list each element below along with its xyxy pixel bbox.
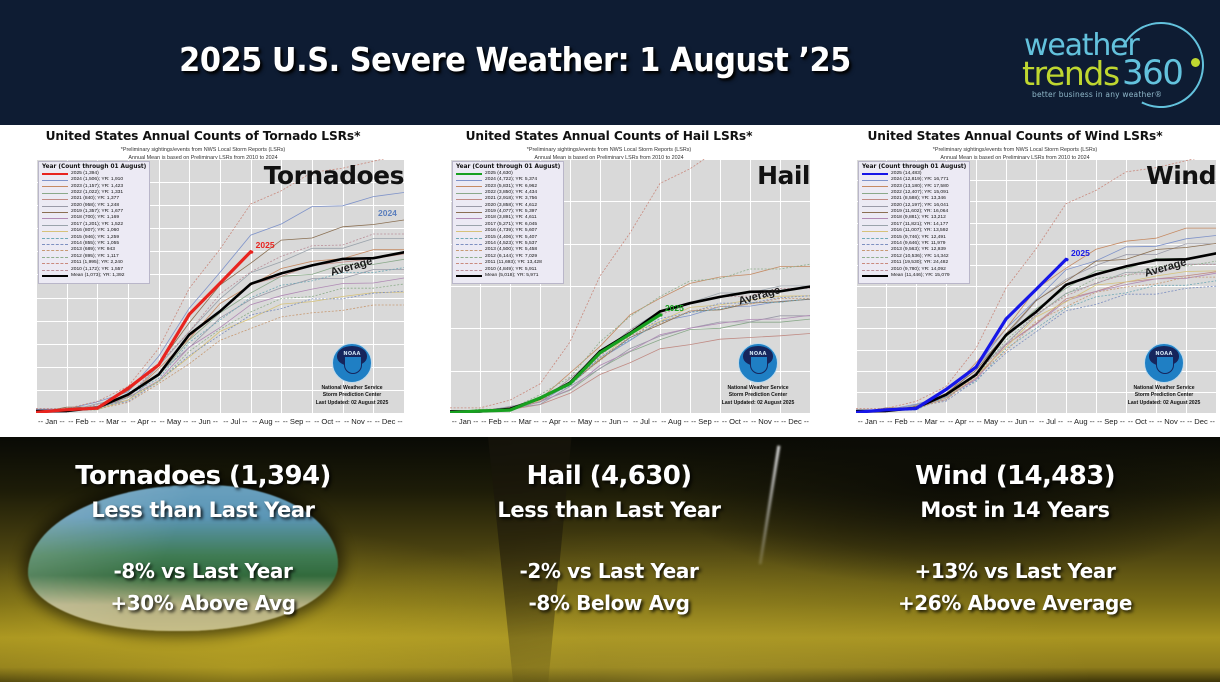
legend-label: 2012 (10,536); YR: 14,342 [891, 255, 949, 260]
legend-swatch [42, 275, 68, 277]
legend-label: 2024 (12,819); YR: 16,771 [891, 178, 949, 183]
legend-swatch [42, 186, 68, 187]
legend-label: 2023 (1,157); YR: 1,423 [71, 185, 123, 190]
legend-label: 2021 (2,918); YR: 3,756 [485, 197, 537, 202]
x-axis-tick-label: -- Aug -- [661, 417, 688, 426]
legend-swatch [42, 257, 68, 258]
chart-subtitle-line1: *Preliminary sightings/events from NWS L… [812, 146, 1218, 154]
noaa-attribution-text: National Weather ServiceStorm Prediction… [1116, 385, 1212, 407]
legend-swatch [456, 180, 482, 181]
legend-swatch [862, 275, 888, 277]
legend-swatch [862, 199, 888, 200]
legend-swatch [42, 218, 68, 219]
legend-swatch [456, 193, 482, 194]
noaa-wordmark: NOAA [1145, 351, 1183, 357]
x-axis: -- Jan ---- Feb ---- Mar ---- Apr ---- M… [450, 417, 810, 431]
x-axis-tick-label: -- Mar -- [511, 417, 538, 426]
legend-swatch [42, 212, 68, 213]
logo-word-trends: trends [1022, 54, 1119, 93]
legend-swatch [42, 250, 68, 251]
x-axis-tick-label: -- Oct -- [722, 417, 748, 426]
x-axis-tick-label: -- Apr -- [542, 417, 568, 426]
legend-label: 2021 (840); YR: 1,377 [71, 197, 119, 202]
legend-swatch [862, 244, 888, 245]
legend-title: Year (Count through 01 August) [862, 164, 966, 170]
x-axis-tick-label: -- Sep -- [283, 417, 311, 426]
legend-swatch [862, 250, 888, 251]
x-axis-tick-label: -- May -- [571, 417, 600, 426]
x-axis-tick-label: -- Jan -- [858, 417, 885, 426]
summary-subheading: Most in 14 Years [812, 498, 1218, 522]
legend-swatch [862, 270, 888, 271]
noaa-attribution-line: Last Updated: 02 August 2025 [304, 400, 400, 407]
legend-label: 2011 (19,530); YR: 24,482 [891, 261, 948, 266]
x-axis-tick-label: -- Jul -- [1039, 417, 1063, 426]
legend-label: 2016 (11,007); YR: 13,592 [891, 229, 948, 234]
legend-title: Year (Count through 01 August) [456, 164, 560, 170]
noaa-wordmark: NOAA [333, 351, 371, 357]
noaa-attribution-line: Last Updated: 02 August 2025 [710, 400, 806, 407]
x-axis-tick-label: -- Oct -- [314, 417, 340, 426]
x-axis-tick-label: -- Feb -- [68, 417, 95, 426]
chart-title: United States Annual Counts of Tornado L… [0, 129, 406, 143]
legend-swatch [862, 173, 888, 175]
summary-vs-last-year: -8% vs Last Year [0, 559, 406, 583]
noaa-wordmark: NOAA [739, 351, 777, 357]
noaa-attribution-text: National Weather ServiceStorm Prediction… [304, 385, 400, 407]
legend-swatch [42, 199, 68, 200]
x-axis-tick-label: -- Mar -- [917, 417, 944, 426]
x-axis-tick-label: -- Jun -- [191, 417, 218, 426]
legend-swatch [456, 250, 482, 251]
summary-subheading: Less than Last Year [0, 498, 406, 522]
charts-band: United States Annual Counts of Tornado L… [0, 125, 1220, 437]
legend-label: 2011 (11,693); YR: 13,428 [485, 261, 542, 266]
legend-swatch [862, 186, 888, 187]
header-bar: 2025 U.S. Severe Weather: 1 August ’25 w… [0, 0, 1220, 125]
extra-year-label: 2024 [378, 208, 397, 218]
legend-swatch [862, 257, 888, 258]
summary-band: Tornadoes (1,394) Less than Last Year -8… [0, 437, 1220, 682]
legend-label: 2015 (4,406); YR: 5,407 [485, 236, 537, 241]
legend-label: 2010 (4,849); YR: 5,911 [485, 268, 537, 273]
legend-title: Year (Count through 01 August) [42, 164, 146, 170]
noaa-seal-icon: NOAA [1144, 343, 1184, 383]
x-axis-tick-label: -- Aug -- [1067, 417, 1094, 426]
current-year-label: 2025 [1071, 248, 1090, 258]
chart-title: United States Annual Counts of Hail LSRs… [406, 129, 812, 143]
legend-swatch [42, 206, 68, 207]
chart-legend: Year (Count through 01 August) 2025 (1,3… [38, 161, 150, 284]
legend-swatch [456, 199, 482, 200]
chart-watermark: Tornadoes [264, 161, 404, 190]
legend-label: 2013 (4,500); YR: 5,458 [485, 248, 537, 253]
x-axis: -- Jan ---- Feb ---- Mar ---- Apr ---- M… [36, 417, 404, 431]
legend-swatch [456, 212, 482, 213]
legend-swatch [42, 225, 68, 226]
legend-label: 2015 (946); YR: 1,259 [71, 236, 119, 241]
x-axis-tick-label: -- Dec -- [781, 417, 809, 426]
legend-label: 2018 (9,881); YR: 13,212 [891, 216, 946, 221]
x-axis-tick-label: -- Sep -- [1097, 417, 1125, 426]
legend-swatch [42, 193, 68, 194]
x-axis-tick-label: -- Jan -- [38, 417, 65, 426]
summary-vs-average: -8% Below Avg [406, 591, 812, 615]
legend-swatch [456, 244, 482, 245]
x-axis-tick-label: -- Apr -- [948, 417, 974, 426]
legend-swatch [862, 206, 888, 207]
legend-label: 2016 (4,739); YR: 5,607 [485, 229, 537, 234]
x-axis-tick-label: -- May -- [977, 417, 1006, 426]
noaa-attribution: NOAA National Weather ServiceStorm Predi… [1116, 343, 1212, 407]
legend-swatch [862, 263, 888, 264]
chart-watermark: Hail [757, 161, 810, 190]
x-axis-tick-label: -- Jan -- [452, 417, 479, 426]
x-axis-tick-label: -- Oct -- [1128, 417, 1154, 426]
legend-swatch [456, 263, 482, 264]
x-axis-tick-label: -- Jul -- [633, 417, 657, 426]
legend-label: 2012 (6,144); YR: 7,029 [485, 255, 537, 260]
legend-label: 2013 (689); YR: 943 [71, 248, 115, 253]
severe-weather-infographic: 2025 U.S. Severe Weather: 1 August ’25 w… [0, 0, 1220, 682]
chart-panel-wind: United States Annual Counts of Wind LSRs… [812, 125, 1218, 437]
logo-tagline: better business in any weather® [1032, 90, 1162, 99]
x-axis-tick-label: -- Feb -- [887, 417, 914, 426]
summary-heading: Wind (14,483) [812, 461, 1218, 491]
noaa-attribution-line: Storm Prediction Center [304, 392, 400, 399]
legend-swatch [456, 225, 482, 226]
legend-label: 2020 (3,858); YR: 4,612 [485, 204, 537, 209]
logo-dot-icon [1191, 58, 1200, 67]
legend-swatch [862, 193, 888, 194]
noaa-seal-icon: NOAA [738, 343, 778, 383]
legend-swatch [42, 244, 68, 245]
series-line-2025 [450, 315, 661, 413]
legend-label: 2020 (12,197); YR: 16,041 [891, 204, 949, 209]
page-title: 2025 U.S. Severe Weather: 1 August ’25 [142, 40, 887, 79]
legend-label: 2023 (13,180); YR: 17,580 [891, 185, 949, 190]
chart-watermark: Wind [1146, 161, 1216, 190]
legend-swatch [42, 231, 68, 232]
chart-panel-tornado: United States Annual Counts of Tornado L… [0, 125, 406, 437]
legend-label: 2021 (8,588); YR: 13,346 [891, 197, 946, 202]
x-axis-tick-label: -- Nov -- [1157, 417, 1185, 426]
legend-label: 2018 (3,891); YR: 4,611 [485, 216, 537, 221]
x-axis-tick-label: -- Sep -- [691, 417, 719, 426]
noaa-attribution: NOAA National Weather ServiceStorm Predi… [710, 343, 806, 407]
chart-panel-hail: United States Annual Counts of Hail LSRs… [406, 125, 812, 437]
legend-swatch [456, 218, 482, 219]
summary-column-wind: Wind (14,483) Most in 14 Years +13% vs L… [812, 437, 1218, 682]
legend-swatch [42, 270, 68, 271]
noaa-attribution-line: Last Updated: 02 August 2025 [1116, 400, 1212, 407]
legend-swatch [862, 231, 888, 232]
legend-label: 2016 (807); YR: 1,060 [71, 229, 119, 234]
legend-label: 2018 (700); YR: 1,169 [71, 216, 119, 221]
chart-subtitle-line1: *Preliminary sightings/events from NWS L… [0, 146, 406, 154]
legend-swatch [42, 263, 68, 264]
x-axis-tick-label: -- Feb -- [481, 417, 508, 426]
legend-swatch [456, 231, 482, 232]
current-year-label: 2025 [665, 303, 684, 313]
legend-swatch [456, 206, 482, 207]
x-axis-tick-label: -- Nov -- [344, 417, 372, 426]
legend-swatch [42, 173, 68, 175]
current-year-label: 2025 [256, 240, 275, 250]
legend-swatch [456, 257, 482, 258]
legend-swatch [456, 275, 482, 277]
legend-swatch [456, 270, 482, 271]
chart-subtitle-line1: *Preliminary sightings/events from NWS L… [406, 146, 812, 154]
x-axis-tick-label: -- Apr -- [130, 417, 156, 426]
legend-label: 2025 (1,394) [71, 172, 99, 177]
summary-column-hail: Hail (4,630) Less than Last Year -2% vs … [406, 437, 812, 682]
logo-word-360: 360 [1122, 53, 1182, 93]
legend-label: 2024 (1,506); YR: 1,910 [71, 178, 123, 183]
x-axis-tick-label: -- Dec -- [375, 417, 403, 426]
summary-heading: Tornadoes (1,394) [0, 461, 406, 491]
legend-label: 2011 (1,995); YR: 2,240 [71, 261, 123, 266]
x-axis-tick-label: -- Jul -- [223, 417, 247, 426]
legend-label: 2013 (9,563); YR: 12,939 [891, 248, 946, 253]
noaa-attribution-line: National Weather Service [1116, 385, 1212, 392]
x-axis-tick-label: -- Aug -- [252, 417, 279, 426]
x-axis-tick-label: -- May -- [160, 417, 189, 426]
chart-legend: Year (Count through 01 August) 2025 (14,… [858, 161, 970, 284]
legend-label: 2020 (958); YR: 1,248 [71, 204, 119, 209]
noaa-attribution-line: Storm Prediction Center [710, 392, 806, 399]
legend-row: Mean (5,018); YR: 5,971 [456, 273, 560, 279]
noaa-attribution: NOAA National Weather ServiceStorm Predi… [304, 343, 400, 407]
legend-swatch [862, 225, 888, 226]
legend-label: Mean (11,446); YR: 15,079 [891, 274, 950, 279]
legend-label: 2024 (4,722); YR: 5,374 [485, 178, 537, 183]
noaa-attribution-line: Storm Prediction Center [1116, 392, 1212, 399]
x-axis-tick-label: -- Jun -- [602, 417, 629, 426]
noaa-attribution-line: National Weather Service [304, 385, 400, 392]
summary-vs-average: +26% Above Average [812, 591, 1218, 615]
legend-label: 2025 (4,630) [485, 172, 513, 177]
summary-column-tornado: Tornadoes (1,394) Less than Last Year -8… [0, 437, 406, 682]
legend-swatch [456, 173, 482, 175]
legend-label: Mean (5,018); YR: 5,971 [485, 274, 538, 279]
x-axis-tick-label: -- Nov -- [751, 417, 779, 426]
legend-swatch [456, 186, 482, 187]
legend-swatch [862, 180, 888, 181]
legend-label: 2015 (9,746); YR: 12,491 [891, 236, 946, 241]
weather-trends-360-logo: weather trends 360 better business in an… [1020, 22, 1206, 112]
legend-swatch [42, 180, 68, 181]
legend-row: Mean (11,446); YR: 15,079 [862, 273, 966, 279]
legend-swatch [42, 238, 68, 239]
x-axis-tick-label: -- Jun -- [1008, 417, 1035, 426]
summary-vs-last-year: +13% vs Last Year [812, 559, 1218, 583]
legend-swatch [456, 238, 482, 239]
x-axis-tick-label: -- Dec -- [1187, 417, 1215, 426]
legend-swatch [862, 218, 888, 219]
noaa-seal-icon: NOAA [332, 343, 372, 383]
legend-row: Mean (1,073); YR: 1,392 [42, 273, 146, 279]
legend-label: 2012 (895); YR: 1,117 [71, 255, 119, 260]
summary-subheading: Less than Last Year [406, 498, 812, 522]
summary-vs-average: +30% Above Avg [0, 591, 406, 615]
summary-vs-last-year: -2% vs Last Year [406, 559, 812, 583]
legend-label: Mean (1,073); YR: 1,392 [71, 274, 124, 279]
chart-title: United States Annual Counts of Wind LSRs… [812, 129, 1218, 143]
x-axis: -- Jan ---- Feb ---- Mar ---- Apr ---- M… [856, 417, 1216, 431]
chart-legend: Year (Count through 01 August) 2025 (4,6… [452, 161, 564, 284]
legend-label: 2023 (5,831); YR: 6,962 [485, 185, 537, 190]
legend-swatch [862, 238, 888, 239]
legend-swatch [862, 212, 888, 213]
legend-label: 2010 (1,172); YR: 1,557 [71, 268, 123, 273]
noaa-attribution-line: National Weather Service [710, 385, 806, 392]
summary-heading: Hail (4,630) [406, 461, 812, 491]
legend-label: 2025 (14,483) [891, 172, 921, 177]
noaa-attribution-text: National Weather ServiceStorm Prediction… [710, 385, 806, 407]
x-axis-tick-label: -- Mar -- [99, 417, 126, 426]
legend-label: 2010 (9,780); YR: 14,092 [891, 268, 946, 273]
